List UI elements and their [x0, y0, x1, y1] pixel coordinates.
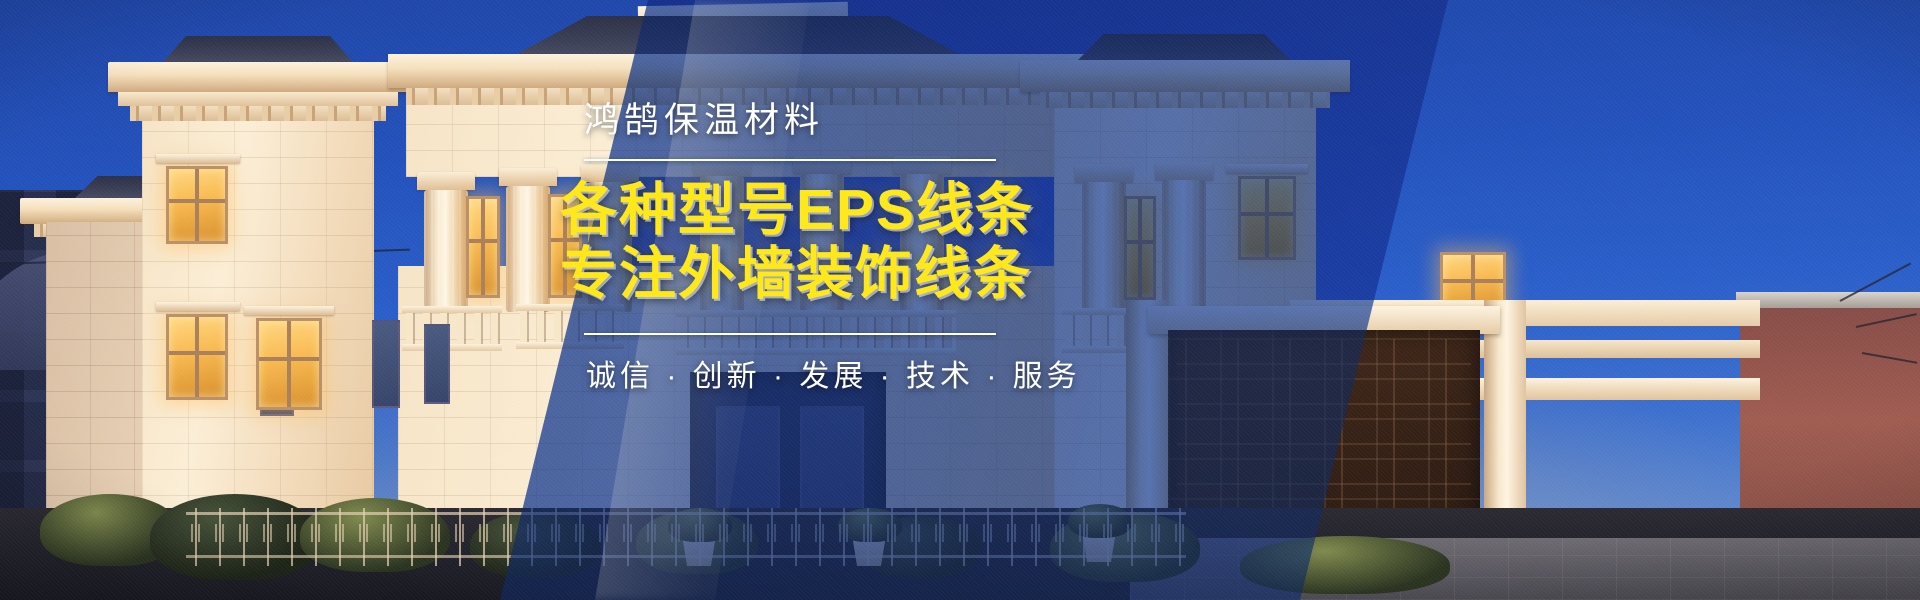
dark-window: [372, 320, 400, 408]
column-capital: [499, 168, 557, 186]
window-hood: [156, 154, 240, 163]
pavilion-cornice-band: [118, 92, 398, 106]
divider-top: [584, 159, 996, 161]
background-building-right-roof: [1736, 292, 1920, 308]
dark-window: [424, 324, 450, 404]
classical-column: [424, 190, 468, 312]
column-capital: [417, 172, 475, 190]
pavilion-cornice: [108, 62, 408, 92]
classical-column: [506, 186, 550, 312]
lit-window: [166, 314, 228, 400]
banner-text-block: 鸿鹄保温材料 各种型号EPS线条 专注外墙装饰线条 诚信 · 创新 · 发展 ·…: [560, 92, 1260, 395]
lit-window: [466, 196, 500, 298]
window-hood: [244, 306, 334, 315]
tagline: 诚信 · 创新 · 发展 · 技术 · 服务: [560, 351, 1260, 395]
lit-window: [166, 166, 228, 244]
lit-window: [256, 318, 322, 410]
company-name: 鸿鹄保温材料: [560, 92, 1260, 143]
balustrade: [402, 312, 502, 346]
pavilion-dentils: [130, 106, 386, 121]
divider-bottom: [584, 333, 996, 335]
headline-line-1: 各种型号EPS线条: [560, 179, 1260, 243]
window-hood: [156, 302, 240, 311]
hero-banner: 鸿鹄保温材料 各种型号EPS线条 专注外墙装饰线条 诚信 · 创新 · 发展 ·…: [0, 0, 1920, 600]
headline-line-2: 专注外墙装饰线条: [560, 243, 1260, 307]
